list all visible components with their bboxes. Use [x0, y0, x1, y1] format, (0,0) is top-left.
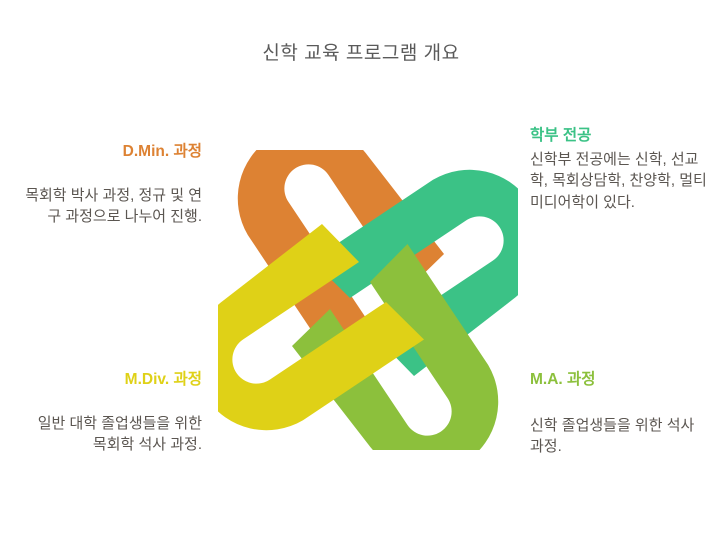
callout-ma: M.A. 과정 신학 졸업생들을 위한 석사 과정. — [530, 370, 708, 458]
interlocking-knot-diagram — [218, 150, 518, 450]
callout-undergrad-headline: 학부 전공 — [530, 126, 708, 147]
callout-ma-headline: M.A. 과정 — [530, 370, 708, 391]
callout-undergrad-body: 신학부 전공에는 신학, 선교학, 목회상담학, 찬양학, 멀티미디어학이 있다… — [530, 149, 708, 213]
knot-arm-group — [218, 150, 518, 450]
callout-mdiv: M.Div. 과정 일반 대학 졸업생들을 위한 목회학 석사 과정. — [24, 370, 202, 456]
callout-dmin-headline: D.Min. 과정 — [24, 142, 202, 163]
callout-dmin-body: 목회학 박사 과정, 정규 및 연구 과정으로 나누어 진행. — [24, 185, 202, 228]
callout-mdiv-body: 일반 대학 졸업생들을 위한 목회학 석사 과정. — [24, 413, 202, 456]
slide-canvas: 신학 교육 프로그램 개요 D.Min. 과정 목회학 박사 과정, 정규 및 … — [0, 0, 722, 542]
page-title: 신학 교육 프로그램 개요 — [0, 42, 722, 67]
callout-undergrad: 학부 전공 신학부 전공에는 신학, 선교학, 목회상담학, 찬양학, 멀티미디… — [530, 126, 708, 213]
knot-svg — [218, 150, 518, 450]
callout-ma-body: 신학 졸업생들을 위한 석사 과정. — [530, 415, 708, 458]
callout-dmin: D.Min. 과정 목회학 박사 과정, 정규 및 연구 과정으로 나누어 진행… — [24, 142, 202, 228]
callout-mdiv-headline: M.Div. 과정 — [24, 370, 202, 391]
